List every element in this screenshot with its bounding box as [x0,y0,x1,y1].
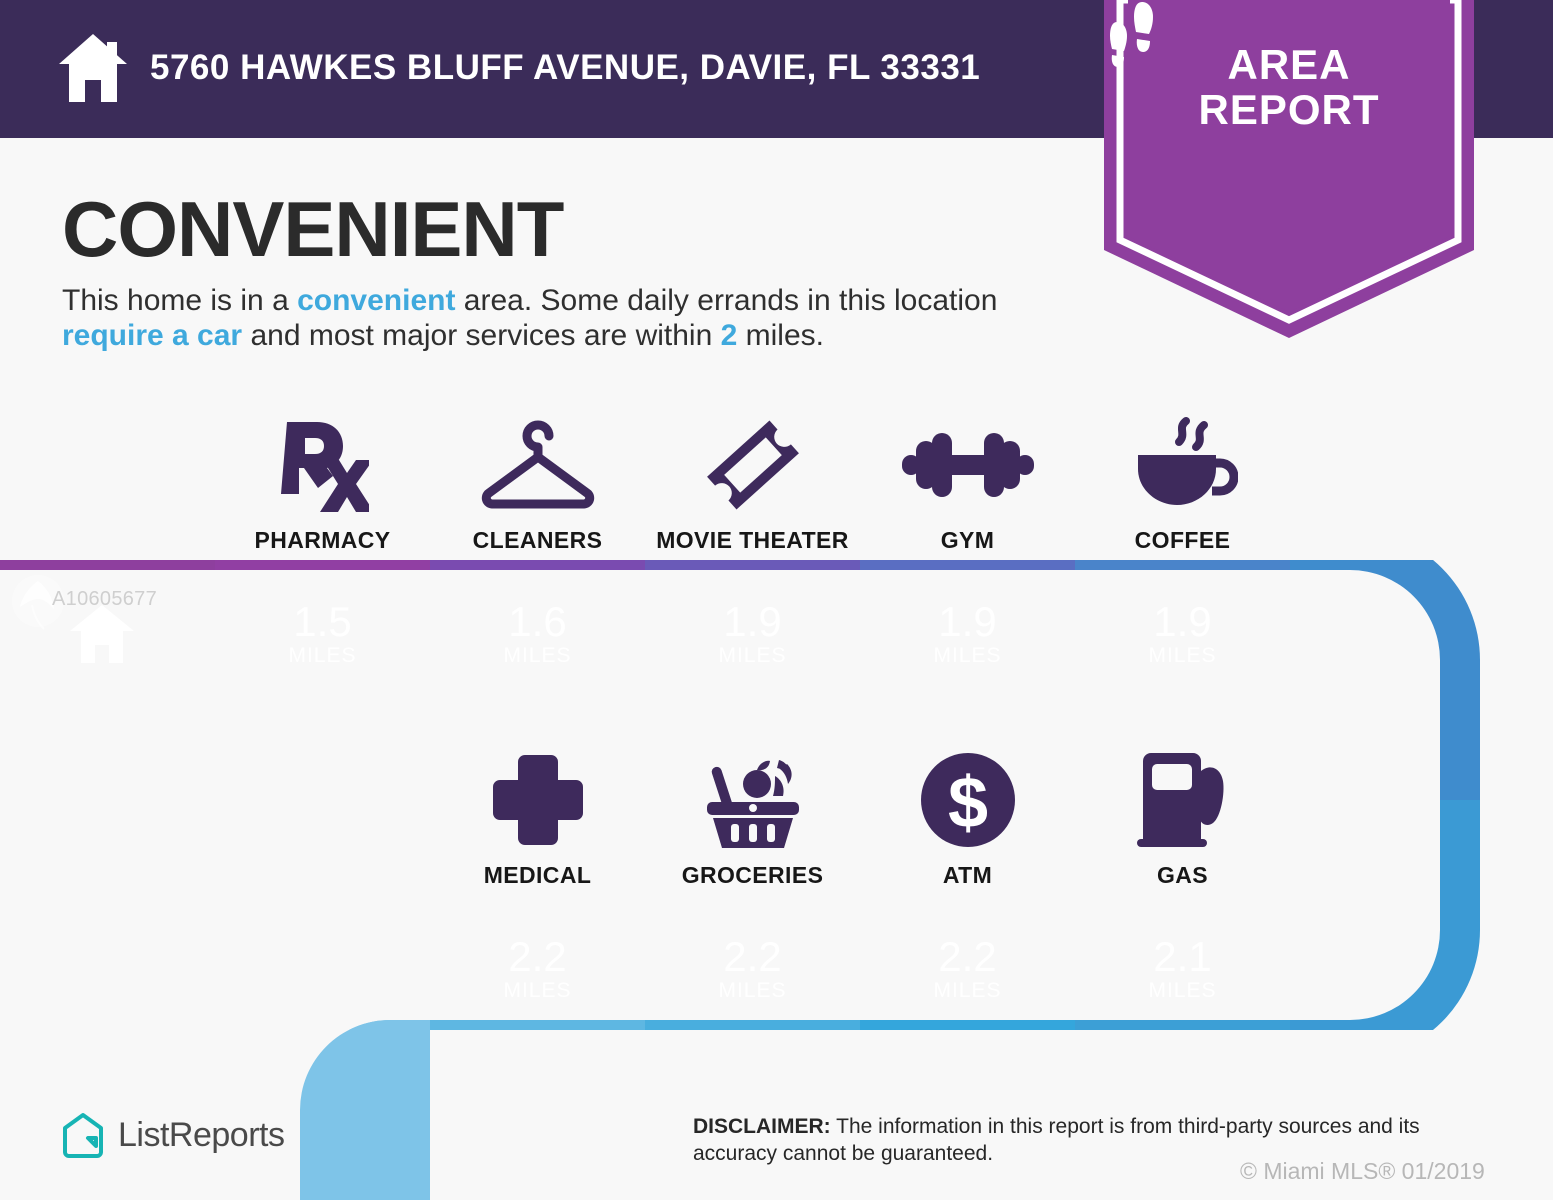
service-label: PHARMACY [254,527,390,554]
clothes-hanger-icon [479,415,597,515]
distance-movie-theater: 1.9 MILES [645,600,860,668]
area-report-page: 5760 HAWKES BLUFF AVENUE, DAVIE, FL 3333… [0,0,1553,1200]
service-pharmacy: PHARMACY [215,415,430,554]
service-label: MEDICAL [484,862,592,889]
service-groceries: GROCERIES [645,750,860,889]
service-icon-row-1: PHARMACY CLEANERS [215,415,1290,554]
distance-unit: MILES [503,979,571,1003]
movie-ticket-icon [703,415,803,515]
distance-unit: MILES [933,644,1001,668]
distance-value: 2.1 [1153,935,1211,979]
listreports-logo[interactable]: ListReports [62,1112,284,1158]
service-label: MOVIE THEATER [656,527,849,554]
service-movie-theater: MOVIE THEATER [645,415,860,554]
service-atm: $ ATM [860,750,1075,889]
service-medical: MEDICAL [430,750,645,889]
distance-unit: MILES [1148,644,1216,668]
distance-coffee: 1.9 MILES [1075,600,1290,668]
ribbon-line-2: REPORT [1104,87,1474,132]
distance-row-2: 2.2 MILES 2.2 MILES 2.2 MILES 2.1 MILES [430,935,1290,1003]
distance-value: 2.2 [723,935,781,979]
service-gym: GYM [860,415,1075,554]
distance-pharmacy: 1.5 MILES [215,600,430,668]
service-gas: GAS [1075,750,1290,889]
distance-value: 1.5 [293,600,351,644]
page-description: This home is in a convenient area. Some … [62,283,1072,353]
desc-text-4: miles. [737,319,824,352]
grocery-basket-icon [699,750,807,850]
distance-unit: MILES [718,979,786,1003]
segment-turn-bottom [270,895,430,1030]
gas-pump-icon [1135,750,1231,850]
svg-text:$: $ [947,763,987,843]
dumbbell-icon [902,415,1034,515]
home-icon [55,32,131,104]
service-label: GAS [1157,862,1208,889]
distance-value: 1.9 [723,600,781,644]
distance-value: 1.9 [1153,600,1211,644]
coffee-cup-icon [1128,415,1238,515]
distance-gas: 2.1 MILES [1075,935,1290,1003]
mls-watermark-id: A10605677 [52,588,157,611]
distance-unit: MILES [503,644,571,668]
distance-value: 2.2 [938,935,996,979]
service-cleaners: CLEANERS [430,415,645,554]
distance-unit: MILES [1148,979,1216,1003]
service-label: GYM [941,527,995,554]
service-coffee: COFFEE [1075,415,1290,554]
distance-value: 1.6 [508,600,566,644]
service-label: CLEANERS [473,527,603,554]
desc-highlight-miles: 2 [721,319,738,352]
service-label: GROCERIES [682,862,824,889]
distance-unit: MILES [933,979,1001,1003]
distance-gym: 1.9 MILES [860,600,1075,668]
medical-cross-icon [491,750,585,850]
distance-value: 1.9 [938,600,996,644]
desc-highlight-require-a-car: require a car [62,319,242,352]
property-address: 5760 HAWKES BLUFF AVENUE, DAVIE, FL 3333… [150,48,980,88]
dollar-circle-icon: $ [919,750,1017,850]
segment-turn-top [1290,560,1553,695]
distance-row-1: 1.5 MILES 1.6 MILES 1.9 MILES 1.9 MILES … [215,600,1290,668]
page-title: CONVENIENT [62,190,563,268]
distance-value: 2.2 [508,935,566,979]
desc-highlight-convenient: convenient [297,284,455,317]
mls-copyright: © Miami MLS® 01/2019 [1240,1158,1485,1185]
prescription-rx-icon [277,415,369,515]
listreports-wordmark: ListReports [118,1116,284,1155]
footprints-icon [1104,0,1170,70]
distance-groceries: 2.2 MILES [645,935,860,1003]
service-label: ATM [943,862,992,889]
segment-tail [270,1000,430,1200]
disclaimer-label: DISCLAIMER: [693,1115,831,1138]
distance-medical: 2.2 MILES [430,935,645,1003]
desc-text-2: area. Some daily errands in this locatio… [455,284,997,317]
area-report-ribbon: AREA REPORT [1104,0,1474,338]
desc-text-1: This home is in a [62,284,297,317]
listreports-house-tag-icon [62,1112,104,1158]
service-label: COFFEE [1135,527,1231,554]
desc-text-3: and most major services are within [242,319,721,352]
segment-turn-upper [1290,695,1553,800]
distance-atm: 2.2 MILES [860,935,1075,1003]
distance-cleaners: 1.6 MILES [430,600,645,668]
segment-turn-lower [1290,800,1553,1030]
service-icon-row-2: MEDICAL [430,750,1290,889]
distance-unit: MILES [718,644,786,668]
distance-unit: MILES [288,644,356,668]
